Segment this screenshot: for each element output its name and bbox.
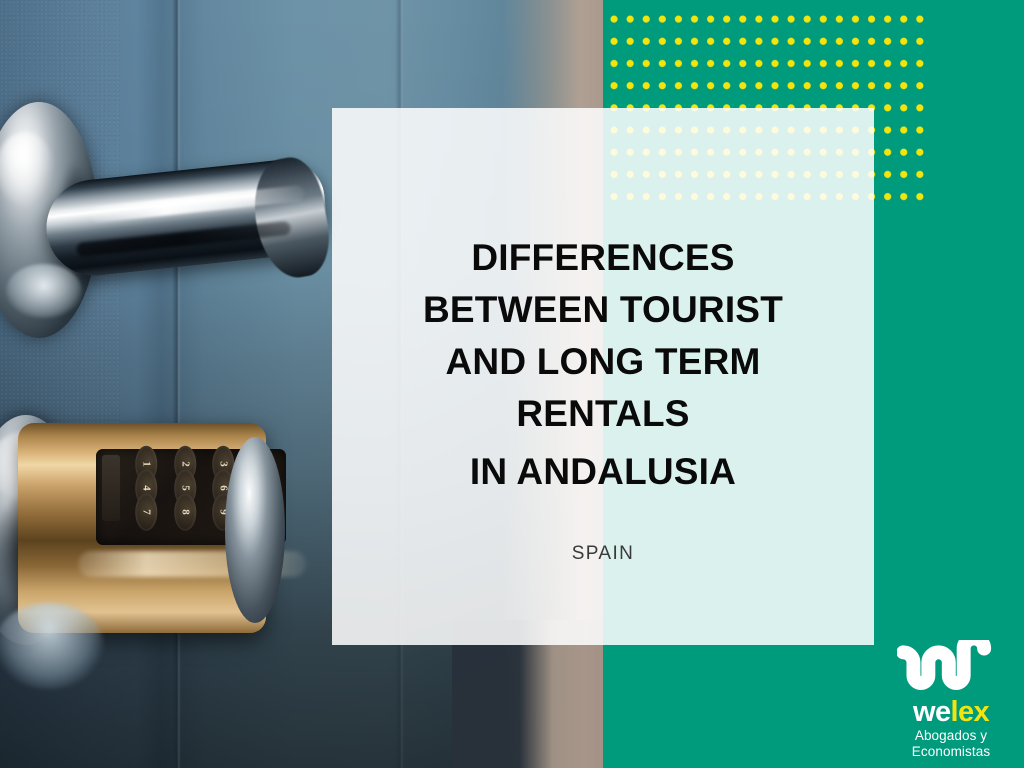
title-line-location: IN ANDALUSIA — [332, 446, 874, 498]
wordmark-lex: lex — [950, 696, 989, 728]
handle-rosette-lower-highlight — [6, 264, 82, 318]
title-line: BETWEEN TOURIST — [332, 284, 874, 336]
door-handle — [0, 92, 340, 372]
cover-canvas: 1 2 3 ▶ 4 5 6 0 7 8 9 ↩ — [0, 0, 1024, 768]
keypad-key: 7 — [135, 494, 157, 531]
welex-logo: welex Abogados y Economistas — [886, 640, 1016, 762]
lock-display-strip — [102, 455, 120, 521]
keypad-smart-lock: 1 2 3 ▶ 4 5 6 0 7 8 9 ↩ — [0, 415, 300, 665]
welex-w-monogram-icon — [897, 640, 1005, 696]
title-line: AND LONG TERM — [332, 336, 874, 388]
title-line: RENTALS — [332, 388, 874, 440]
title-line: DIFFERENCES — [332, 232, 874, 284]
subtitle: SPAIN — [332, 543, 874, 565]
keypad-key: 8 — [174, 494, 196, 531]
logo-tagline-line-2: Economistas — [886, 744, 1016, 760]
logo-tagline: Abogados y Economistas — [886, 728, 1016, 759]
welex-wordmark: welex — [886, 697, 1016, 727]
lock-end-cap — [225, 437, 285, 623]
page-title: DIFFERENCES BETWEEN TOURIST AND LONG TER… — [332, 232, 874, 498]
logo-tagline-line-1: Abogados y — [886, 728, 1016, 744]
wordmark-we: we — [913, 696, 951, 728]
